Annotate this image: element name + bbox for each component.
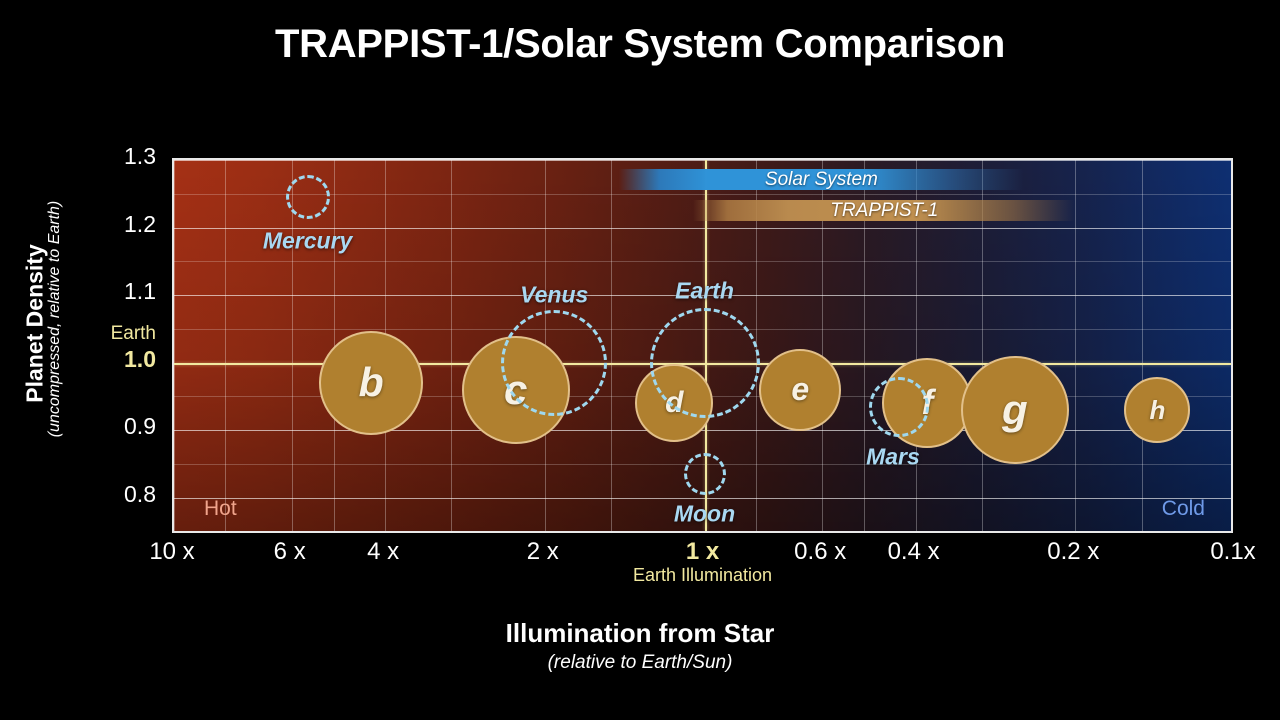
solar-body-mercury[interactable]	[286, 175, 330, 219]
gridline-horizontal	[174, 194, 1231, 195]
cold-label: Cold	[1162, 497, 1205, 521]
solar-body-label-venus: Venus	[520, 281, 588, 308]
solar-body-earth[interactable]	[650, 308, 760, 418]
plot-area: Solar System TRAPPIST-1 Habitable Zones …	[172, 158, 1233, 533]
y-axis-title-group: Planet Density (uncompressed, relative t…	[0, 160, 75, 540]
gridline-horizontal	[174, 532, 1231, 533]
y-axis-title-main: Planet Density	[22, 164, 49, 484]
x-tick-2x: 2 x	[527, 538, 559, 566]
y-tick-1-2: 1.2	[94, 211, 156, 238]
y-tick-1-3: 1.3	[94, 143, 156, 170]
chart-canvas: TRAPPIST-1/Solar System Comparison Plane…	[0, 0, 1280, 720]
y-tick-0-9: 0.9	[94, 413, 156, 440]
gridline-vertical	[451, 160, 452, 531]
planet-label-b: b	[359, 359, 384, 406]
planet-h[interactable]: h	[1124, 377, 1190, 443]
y-axis-title-sub: (uncompressed, relative to Earth)	[46, 159, 64, 479]
solar-body-label-earth: Earth	[675, 277, 734, 304]
x-tick-06x: 0.6 x	[794, 538, 846, 566]
x-tick-02x: 0.2 x	[1047, 538, 1099, 566]
planet-g[interactable]: g	[961, 356, 1069, 464]
earth-illumination-sublabel: Earth Illumination	[633, 565, 772, 586]
y-tick-1-0: 1.0	[94, 346, 156, 373]
x-tick-04x: 0.4 x	[888, 538, 940, 566]
gridline-horizontal	[174, 160, 1231, 161]
y-tick-earth-word: Earth	[84, 323, 156, 345]
habitable-zone-label-trappist1: TRAPPIST-1	[830, 200, 938, 221]
solar-body-label-mercury: Mercury	[263, 228, 352, 255]
gridline-vertical	[174, 160, 175, 531]
planet-label-e: e	[791, 371, 809, 408]
page-title: TRAPPIST-1/Solar System Comparison	[0, 22, 1280, 67]
gridline-vertical	[611, 160, 612, 531]
habitable-zone-label-solar-system: Solar System	[765, 169, 878, 190]
x-tick-01x: 0.1x	[1210, 538, 1255, 566]
gridline-horizontal	[174, 430, 1231, 431]
gridline-vertical	[292, 160, 293, 531]
planet-e[interactable]: e	[759, 349, 841, 431]
solar-body-mars[interactable]	[869, 377, 929, 437]
y-tick-0-8: 0.8	[94, 481, 156, 508]
x-axis-title-sub: (relative to Earth/Sun)	[0, 652, 1280, 674]
x-tick-1x: 1 x	[686, 538, 719, 566]
solar-body-venus[interactable]	[501, 310, 607, 416]
solar-body-label-moon: Moon	[674, 501, 735, 528]
x-tick-10x: 10 x	[149, 538, 194, 566]
gridline-vertical	[225, 160, 226, 531]
gridline-horizontal	[174, 498, 1231, 499]
planet-label-g: g	[1002, 386, 1028, 434]
planet-label-h: h	[1150, 395, 1166, 426]
hot-label: Hot	[204, 497, 237, 521]
gridline-vertical	[1142, 160, 1143, 531]
gridline-vertical	[1075, 160, 1076, 531]
x-tick-6x: 6 x	[274, 538, 306, 566]
y-tick-1-1: 1.1	[94, 278, 156, 305]
solar-body-moon[interactable]	[684, 453, 726, 495]
gridline-horizontal	[174, 261, 1231, 262]
x-axis-title-main: Illumination from Star	[0, 618, 1280, 649]
solar-body-label-mars: Mars	[866, 443, 920, 470]
x-tick-4x: 4 x	[367, 538, 399, 566]
planet-b[interactable]: b	[319, 331, 423, 435]
